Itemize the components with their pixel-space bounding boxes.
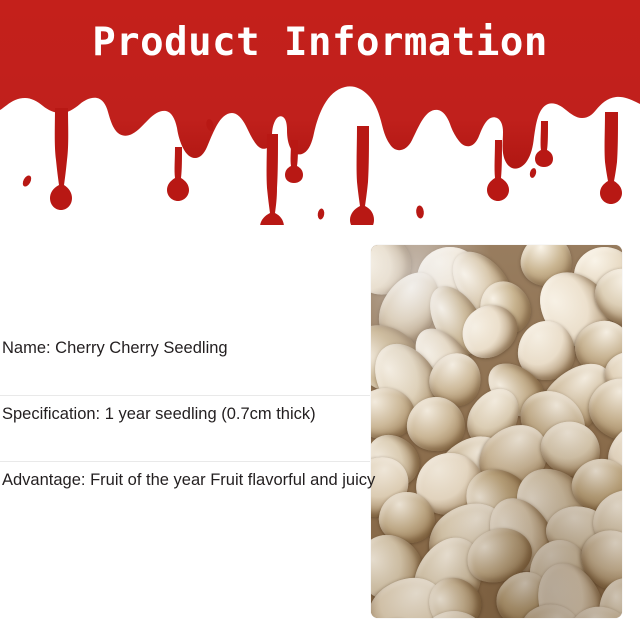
banner: Product Information: [0, 0, 640, 225]
specification-list: Name: Cherry Cherry Seedling Specificati…: [0, 330, 378, 528]
product-information-page: Product Information Name: Cherry Cherry …: [0, 0, 640, 640]
spec-text-advantage: Advantage: Fruit of the year Fruit flavo…: [2, 470, 375, 491]
photo-canvas: [371, 245, 622, 618]
spec-text-specification: Specification: 1 year seedling (0.7cm th…: [2, 404, 316, 425]
spec-row-name: Name: Cherry Cherry Seedling: [0, 330, 378, 396]
product-photo: [371, 245, 622, 618]
spec-text-name: Name: Cherry Cherry Seedling: [2, 338, 228, 359]
page-title: Product Information: [0, 19, 640, 66]
spec-row-specification: Specification: 1 year seedling (0.7cm th…: [0, 396, 378, 462]
spec-row-advantage: Advantage: Fruit of the year Fruit flavo…: [0, 462, 378, 528]
